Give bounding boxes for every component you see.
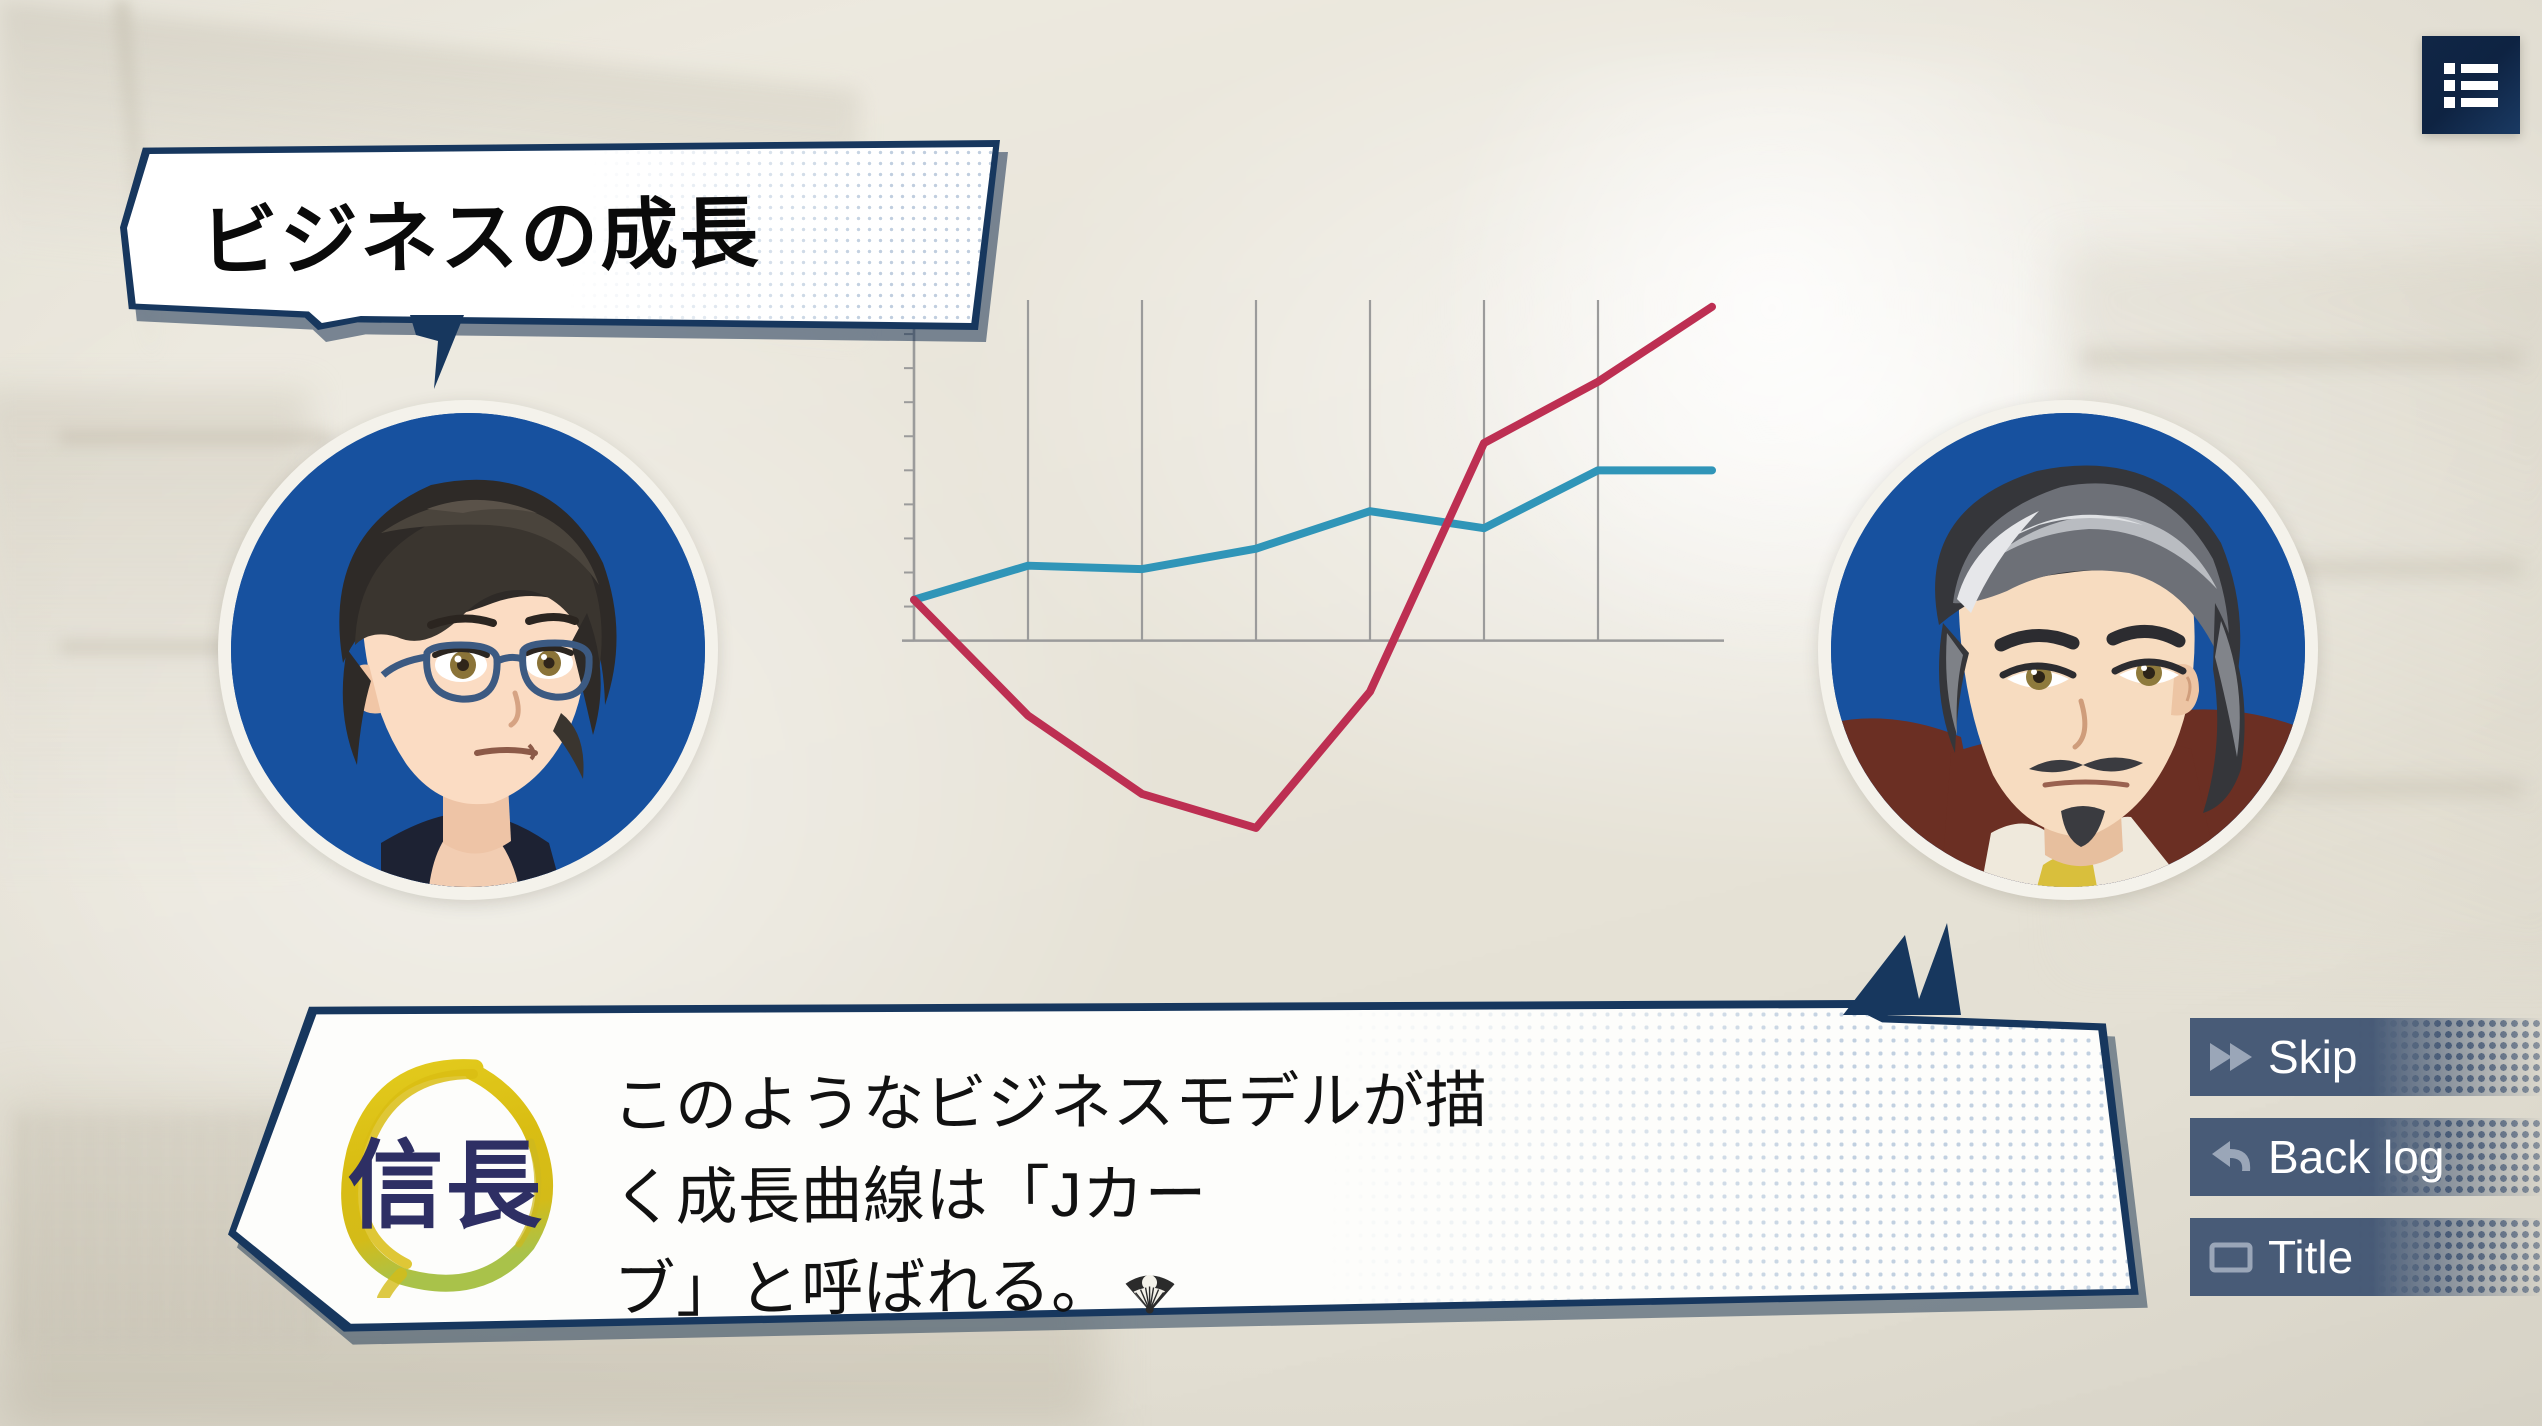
menu-item-title[interactable]: Title bbox=[2190, 1218, 2542, 1296]
title-speech-bubble: ビジネスの成長 bbox=[120, 140, 1000, 330]
menu-item-skip[interactable]: Skip bbox=[2190, 1018, 2542, 1096]
dialogue-text: このようなビジネスモデルが描く成長曲線は「Jカー ブ」と呼ばれる。 bbox=[612, 1055, 1539, 1336]
dialogue-line-2: ブ」と呼ばれる。 bbox=[613, 1252, 1113, 1324]
avatar-young-man-glasses-icon bbox=[231, 413, 705, 887]
dialogue-box[interactable]: 信長 このようなビジネスモデルが描く成長曲線は「Jカー ブ」と呼ばれる。 bbox=[228, 1000, 2158, 1335]
character-avatar-left[interactable] bbox=[218, 400, 718, 900]
chart-svg bbox=[900, 255, 1730, 875]
menu-button[interactable] bbox=[2422, 36, 2520, 134]
undo-arrow-icon bbox=[2206, 1137, 2258, 1177]
window-rect-icon bbox=[2206, 1237, 2258, 1277]
character-avatar-right[interactable] bbox=[1818, 400, 2318, 900]
avatar-disc bbox=[1831, 413, 2305, 887]
menu-item-label: Back log bbox=[2268, 1130, 2444, 1184]
fast-forward-icon bbox=[2206, 1037, 2258, 1077]
scene-title-text: ビジネスの成長 bbox=[199, 164, 941, 296]
folding-fan-icon bbox=[1123, 1247, 1175, 1291]
list-menu-icon bbox=[2440, 54, 2502, 116]
growth-chart bbox=[900, 255, 1730, 875]
menu-item-label: Skip bbox=[2268, 1030, 2357, 1084]
dialogue-line-1: このようなビジネスモデルが描く成長曲線は「Jカー bbox=[612, 1066, 1487, 1232]
avatar-disc bbox=[231, 413, 705, 887]
menu-item-back-log[interactable]: Back log bbox=[2190, 1118, 2542, 1196]
avatar-nobunaga-icon bbox=[1831, 413, 2305, 887]
speaker-name-badge: 信長 bbox=[323, 1048, 568, 1298]
dialogue-tail-icon bbox=[1843, 915, 2103, 1025]
speaker-name-text: 信長 bbox=[323, 1052, 568, 1302]
side-menu: Skip Back log Title bbox=[2190, 1018, 2542, 1318]
menu-item-label: Title bbox=[2268, 1230, 2353, 1284]
title-bubble-tail-icon bbox=[408, 315, 478, 390]
